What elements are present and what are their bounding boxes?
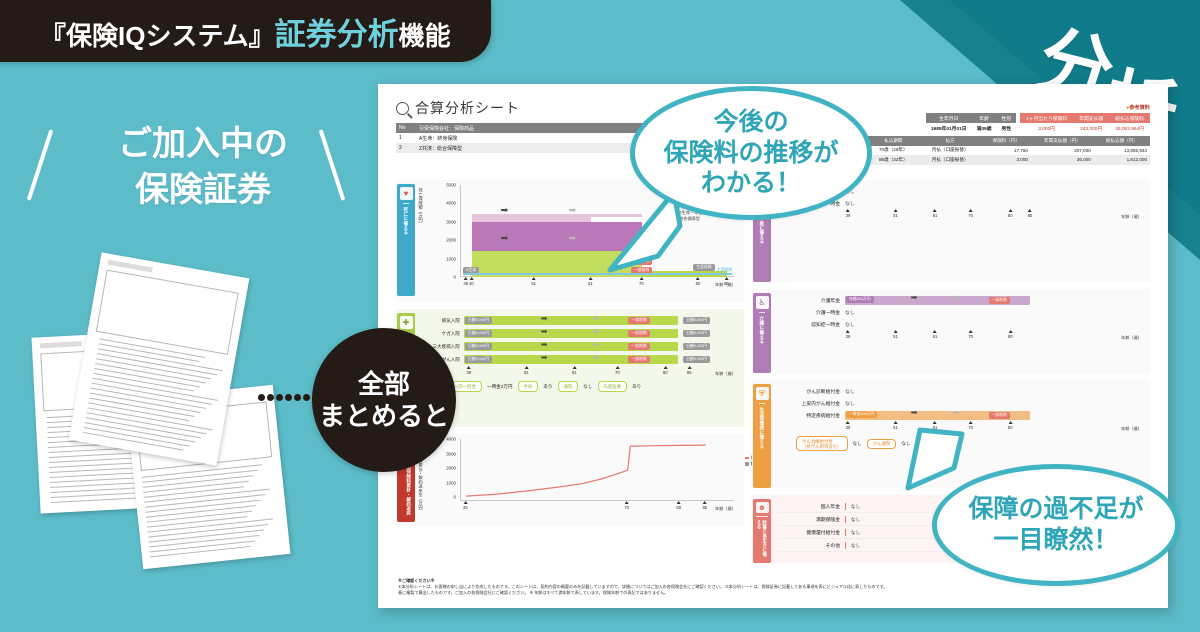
x-tick-label: 85 [687, 370, 692, 375]
medical-chip-row: 入院一時金一時金2万円手術あり通院なし先進医療あり [422, 381, 738, 392]
coverage-badge: 一部前倒 [628, 330, 649, 337]
arrow-dot [285, 394, 292, 401]
document-text-line [84, 422, 195, 442]
x-tick-marker [687, 366, 691, 369]
row-separator [845, 542, 846, 549]
x-tick: 51 [524, 366, 529, 375]
coverage-gap-bubble: 保障の過不足が 一目瞭然！ [932, 464, 1180, 586]
lifestyle-row: 特定疾病給付金一時金300万円➡➡一部前倒 [778, 409, 1144, 421]
x-tick-marker [469, 277, 473, 280]
premium-chart-x-axis: 39708085年齢（歳） [460, 501, 738, 513]
lifestyle-row: 上皮内がん給付金なし [778, 397, 1144, 409]
x-tick: 51 [893, 421, 898, 430]
x-tick-marker [532, 277, 536, 280]
col-payterm: 払込期間 [868, 136, 919, 145]
x-axis-label: 年齢（歳） [1121, 426, 1142, 432]
x-tick-label: 39 [466, 370, 471, 375]
lifestyle-label: 上皮内がん給付金 [778, 400, 840, 407]
x-tick: 80 [1008, 330, 1013, 339]
sheet-title: 合算分析シート [415, 98, 520, 118]
col-monthly: 1ヶ月当たり保険料 [1020, 113, 1073, 123]
cell: 70歳（29年） [868, 146, 919, 156]
medical-row: 病気入院日額5,000円➡➡一部前倒日額5,000円 [422, 314, 738, 327]
col-annual: 年間支払額 [1073, 113, 1109, 123]
val-monthly: 3,000円 [1020, 123, 1073, 133]
y-tick-label: 2000 [446, 466, 456, 471]
transition-arrow-icon: ➡ [911, 409, 918, 417]
x-axis-label: 年齢（歳） [715, 506, 736, 512]
disability-value: なし [845, 200, 855, 207]
lifestyle-track: 一時金300万円➡➡一部前倒 [845, 411, 1144, 420]
savings-row-label: 満期保険金 [778, 516, 840, 523]
x-tick-marker [1008, 209, 1012, 212]
nursing-value-badge: 年額300万円 [846, 296, 874, 303]
medical-chip-value: あり [543, 384, 552, 390]
medical-row-track: 日額5,000円➡➡一部前倒日額5,000円 [464, 342, 738, 351]
x-tick: 61 [572, 366, 577, 375]
transition-arrow-icon: ➡ [541, 328, 548, 336]
x-axis-label: 年齢（歳） [1121, 214, 1142, 220]
transition-arrow-icon: ➡ [501, 234, 509, 243]
x-tick-label: 39 [463, 505, 468, 510]
x-tick: 51 [893, 330, 898, 339]
coverage-badge: 一部前倒 [628, 356, 649, 363]
x-tick: 85 [687, 366, 692, 375]
x-tick-marker [724, 277, 728, 280]
medical-row: 三大疾病入院日額5,000円➡➡一部前倒日額5,000円 [422, 340, 738, 353]
medical-chip[interactable]: 先進医療 [598, 381, 628, 392]
cell: 月払（口座振替） [919, 155, 982, 165]
col-annualpay: 年間支払額（円） [1031, 136, 1094, 145]
x-tick-label: 80 [1008, 213, 1013, 218]
poster-stage: 分析 『保険IQシステム』証券分析機能 ご加入中の 保険証券 全部 まとめると … [0, 0, 1200, 632]
y-tick-label: 1000 [446, 480, 456, 485]
lifestyle-value-badge: 一時金300万円 [846, 411, 877, 418]
x-tick: 61 [933, 209, 938, 218]
coverage-badge: 一部前倒 [989, 297, 1010, 304]
title-banner: 『保険IQシステム』証券分析機能 [0, 0, 491, 62]
x-tick: 51 [531, 277, 536, 286]
x-tick-marker [846, 209, 850, 212]
legend-swatch [745, 462, 749, 466]
transition-arrow-icon: ➡ [501, 206, 509, 215]
coverage-badge: 一部前倒 [628, 343, 649, 350]
lifestyle-row: がん診断給付金なし [778, 385, 1144, 397]
death-y-axis-label: 死亡保障額（万円） [418, 188, 423, 226]
document-title-block [40, 341, 82, 348]
transition-arrow-icon: ➡ [569, 206, 577, 215]
transition-arrow-icon: ➡ [541, 341, 548, 349]
y-tick-label: 2000 [446, 238, 456, 243]
x-tick-marker [703, 501, 707, 504]
table-row: 終身 70歳（29年） 月払（口座振替） 17,750 207,000 13,8… [832, 146, 1150, 156]
x-tick-label: 61 [933, 334, 938, 339]
slash-left [27, 129, 54, 201]
lead-line-1: ご加入中の [58, 122, 348, 168]
x-tick: 80 [1008, 209, 1013, 218]
x-tick: 70 [968, 209, 973, 218]
medical-chip[interactable]: 手術 [518, 381, 539, 392]
nursing-row: 認知症一時金なし [778, 318, 1144, 330]
medical-row-label: ケガ入院 [422, 331, 460, 337]
transition-arrow-icon: ➡ [911, 294, 918, 302]
col-paymethod: 払方 [919, 136, 982, 145]
x-tick: 80 [676, 501, 681, 510]
premium-chart-y-axis: 01000200030004000 [436, 439, 458, 501]
lifestyle-x-axis: 3951617080年齢（歳） [844, 421, 1144, 433]
coverage-badge: 日額5,000円 [683, 343, 710, 350]
badge-line-2: まとめると [319, 400, 449, 432]
x-tick-marker [663, 366, 667, 369]
x-tick: 61 [933, 330, 938, 339]
x-tick-label: 70 [615, 370, 620, 375]
nursing-value: なし [845, 321, 855, 328]
x-tick-label: 61 [933, 213, 938, 218]
x-tick-marker [893, 421, 897, 424]
document-text-line [150, 546, 250, 558]
savings-row-label: 健康還付給付金 [778, 529, 840, 536]
title-prefix: 『保険IQシステム』 [40, 21, 275, 51]
whole-life-label: 生涯保障 [717, 268, 732, 273]
policy-detail-table: 保障期間 払込期間 払方 保険料（円） 年間支払額（円） 総払込額（円） 終身 … [832, 136, 1150, 164]
bubble-2-line-1: 保障の過不足が [968, 494, 1143, 525]
reference-note: ●参考資料 [832, 104, 1150, 111]
medical-chart-x-axis: 395161708085年齢（歳） [464, 366, 738, 378]
lead-headline: ご加入中の 保険証券 [58, 122, 348, 213]
x-tick: 80 [696, 277, 701, 286]
summarize-badge: 全部 まとめると [312, 328, 456, 472]
x-tick-marker [893, 209, 897, 212]
coverage-badge: 日額5,000円 [465, 317, 492, 324]
x-tick-marker [467, 366, 471, 369]
x-tick: 39 [463, 501, 468, 510]
y-tick-label: 0 [454, 275, 456, 280]
savings-row-label: その他 [778, 542, 840, 549]
medical-row: がん入院日額5,000円➡➡一部前倒日額5,000円 [422, 353, 738, 366]
cell: 1,812,000 [1094, 155, 1150, 165]
row-separator [845, 503, 846, 510]
medical-row-label: 病気入院 [422, 318, 460, 324]
transition-arrow-icon: ➡ [953, 409, 960, 417]
nursing-row: 介護年金年額300万円➡➡一部前倒 [778, 294, 1144, 306]
x-tick-label: 39 [846, 425, 851, 430]
x-tick-label: 39 [846, 213, 851, 218]
x-tick: 80 [1008, 421, 1013, 430]
col-totalpay: 総払込額（円） [1094, 136, 1150, 145]
x-axis-label: 年齢（歳） [715, 371, 736, 377]
val-annual: 243,000円 [1073, 123, 1109, 133]
arrow-dot [276, 394, 283, 401]
cell-no: 2 [396, 143, 416, 153]
x-tick-label: 61 [588, 281, 593, 286]
coverage-badge: 日額5,000円 [465, 356, 492, 363]
x-tick-marker [464, 277, 468, 280]
cell: 17,750 [982, 146, 1031, 156]
title-highlight: 証券分析 [275, 17, 399, 52]
bubble-1-line-3: わかる！ [663, 168, 838, 199]
x-tick: 80 [663, 366, 668, 375]
coverage-badge: 日額5,000円 [683, 317, 710, 324]
col-premium: 保険料（円） [982, 136, 1031, 145]
x-tick: 39 [846, 421, 851, 430]
x-tick-label: 39 [463, 281, 468, 286]
x-tick-label: 80 [663, 370, 668, 375]
lifestyle-section-label: 生活習慣病に備える [759, 403, 765, 448]
x-tick-marker [696, 277, 700, 280]
x-tick-label: 80 [1008, 425, 1013, 430]
savings-row-label: 個人年金 [778, 503, 840, 510]
bubble-1-line-2: 保険料の推移が [663, 138, 838, 169]
heart-icon: ♥ [400, 187, 413, 200]
title-suffix: 機能 [399, 21, 451, 51]
x-tick-label: 51 [893, 213, 898, 218]
transition-arrow-icon: ➡ [593, 341, 600, 349]
x-tick-marker [933, 209, 937, 212]
premium-chart-plot: 払込保険料累計解約返戻金 [460, 439, 734, 501]
nursing-label: 認知症一時金 [778, 321, 840, 328]
coverage-badge: 一部前倒 [628, 317, 649, 324]
x-tick-marker [572, 366, 576, 369]
nursing-label: 介護年金 [778, 297, 840, 304]
x-tick-label: 70 [968, 334, 973, 339]
x-tick-marker [1008, 421, 1012, 424]
premium-trend-bubble: 今後の 保険料の推移が わかる！ [630, 86, 872, 220]
bubble-1-line-1: 今後の [663, 107, 838, 138]
savings-row-value: なし [851, 529, 861, 536]
transition-arrow-icon: ➡ [541, 315, 548, 323]
x-tick-label: 70 [968, 213, 973, 218]
val-gender: 男性 [997, 123, 1017, 133]
x-tick-marker [969, 209, 973, 212]
cell: 3,000 [982, 155, 1031, 165]
savings-row-value: なし [851, 503, 861, 510]
col-age: 年齢 [972, 113, 997, 123]
lifestyle-value: なし [845, 388, 855, 395]
table-row: 終身 85歳（32年） 月払（口座振替） 3,000 36,000 1,812,… [832, 155, 1150, 165]
lead-line-2: 保険証券 [58, 168, 348, 214]
val-age: 満39歳 [972, 123, 997, 133]
savings-row-value: なし [851, 542, 861, 549]
val-total: 35,062,964円 [1109, 123, 1150, 133]
lifestyle-value: なし [845, 400, 855, 407]
y-tick-label: 3000 [446, 451, 456, 456]
savings-section-label: 貯蓄と長生きに備える [756, 516, 767, 558]
y-tick-label: 1000 [446, 256, 456, 261]
transition-arrow-icon: ➡ [569, 234, 577, 243]
x-tick-label: 51 [531, 281, 536, 286]
x-tick-marker [677, 501, 681, 504]
x-tick-marker [933, 330, 937, 333]
x-tick: 39 [466, 366, 471, 375]
medical-chip-value: なし [583, 384, 592, 390]
footnote-line-2: 基に複製で算出したものです。ご加入の各保険会社にご確認ください。 ※ 年齢はすべ… [398, 590, 1148, 596]
death-chart-pill: 生涯保障 [693, 264, 714, 271]
col-birthdate: 生年月日 [926, 113, 972, 123]
lifestyle-label: がん診断給付金 [778, 388, 840, 395]
x-tick-marker [969, 330, 973, 333]
x-tick-label: 61 [572, 370, 577, 375]
col-gender: 性別 [997, 113, 1017, 123]
arrow-dot [303, 394, 310, 401]
x-tick-label: 51 [524, 370, 529, 375]
x-tick-marker [1028, 209, 1032, 212]
transition-arrow-icon: ➡ [953, 294, 960, 302]
x-tick-label: 39 [846, 334, 851, 339]
magnifier-icon [396, 102, 409, 115]
x-tick-marker [1008, 330, 1012, 333]
medical-chip-value: 一時金2万円 [487, 384, 513, 390]
premium-summary-table: 1ヶ月当たり保険料 年間支払額 総払込保険料 3,000円 243,000円 3… [1020, 113, 1150, 133]
nursing-section-label: 介護に備える [759, 312, 765, 344]
x-axis-label: 年齢（歳） [715, 282, 736, 288]
x-tick-label: 51 [893, 334, 898, 339]
nursing-label: 介護一時金 [778, 309, 840, 316]
x-tick-marker [846, 421, 850, 424]
x-tick: 51 [893, 209, 898, 218]
cell: 85歳（32年） [868, 155, 919, 165]
lifestyle-chip[interactable]: がん治療給付金 （抗がん剤等含む） [796, 436, 848, 451]
x-tick: 85 [1028, 209, 1033, 218]
y-tick-label: 0 [454, 495, 456, 500]
cell: 月払（口座振替） [919, 146, 982, 156]
x-tick-label: 70 [624, 505, 629, 510]
x-tick-marker [524, 366, 528, 369]
death-chart-y-axis: 010002000300040005000 [436, 185, 458, 277]
y-tick-label: 4000 [446, 201, 456, 206]
medical-row-track: 日額5,000円➡➡一部前倒日額5,000円 [464, 329, 738, 338]
x-tick-marker [615, 366, 619, 369]
x-tick-label: 40 [469, 281, 474, 286]
wheelchair-icon: ♿ [756, 296, 769, 309]
x-tick: 70 [624, 501, 629, 510]
coverage-badge: 日額5,000円 [683, 330, 710, 337]
x-tick: 70 [615, 366, 620, 375]
x-tick: 61 [588, 277, 593, 286]
x-tick-marker [625, 501, 629, 504]
x-tick-marker [846, 330, 850, 333]
row-separator [845, 529, 846, 536]
x-tick-label: 80 [1008, 334, 1013, 339]
x-tick: 85 [702, 501, 707, 510]
sheet-header-tables: ●参考資料 生年月日 年齢 性別 1985年01月01日 満39歳 男性 [832, 104, 1150, 165]
lifestyle-label: 特定疾病給付金 [778, 412, 840, 419]
col-no: No [396, 123, 416, 133]
cell: 13,855,944 [1094, 146, 1150, 156]
nursing-row: 介護一時金なし [778, 306, 1144, 318]
val-birthdate: 1985年01月01日 [926, 123, 972, 133]
x-tick: 70 [968, 330, 973, 339]
coverage-badge: 日額5,000円 [465, 330, 492, 337]
coverage-badge: 日額5,000円 [683, 356, 710, 363]
row-separator [845, 516, 846, 523]
premium-accumulation-line [461, 439, 711, 497]
disability-x-axis: 395161708085年齢（歳） [844, 209, 1144, 221]
x-tick: 39 [846, 209, 851, 218]
nursing-value: なし [845, 309, 855, 316]
cross-icon: ✚ [400, 316, 413, 329]
transition-arrow-icon: ➡ [593, 328, 600, 336]
page-title: 『保険IQシステム』証券分析機能 [40, 9, 451, 54]
arrow-dot [267, 394, 274, 401]
x-tick-marker [463, 501, 467, 504]
legend-swatch [745, 457, 749, 458]
x-tick-marker [893, 330, 897, 333]
transition-arrow-icon: ➡ [593, 315, 600, 323]
x-tick: 39 [463, 277, 468, 286]
arrow-dot [258, 394, 265, 401]
transition-arrow-icon: ➡ [593, 354, 600, 362]
medical-row-track: 日額5,000円➡➡一部前倒日額5,000円 [464, 316, 738, 325]
nursing-track: 年額300万円➡➡一部前倒 [845, 296, 1144, 305]
cell: 36,000 [1031, 155, 1094, 165]
nursing-section: ♿ 介護に備える 介護年金年額300万円➡➡一部前倒介護一時金なし認知症一時金な… [752, 289, 1150, 373]
medical-row: ケガ入院日額5,000円➡➡一部前倒日額5,000円 [422, 327, 738, 340]
medical-chip-value: あり [632, 384, 641, 390]
x-tick-label: 80 [676, 505, 681, 510]
bubble-2-line-2: 一目瞭然！ [968, 525, 1143, 556]
nursing-x-axis: 3951617080年齢（歳） [844, 330, 1144, 342]
x-tick: 40 [469, 277, 474, 286]
x-tick-label: 85 [1028, 213, 1033, 218]
transition-arrow-icon: ➡ [541, 354, 548, 362]
cell: 207,000 [1031, 146, 1094, 156]
x-tick-label: 80 [696, 281, 701, 286]
y-tick-label: 3000 [446, 219, 456, 224]
x-tick-label: 51 [893, 425, 898, 430]
medical-chip[interactable]: 通院 [558, 381, 579, 392]
y-tick-label: 5000 [446, 183, 456, 188]
x-tick-marker [588, 277, 592, 280]
x-axis-label: 年齢（歳） [1121, 335, 1142, 341]
x-tick: 39 [846, 330, 851, 339]
hospital-icon: ⛨ [756, 387, 769, 400]
y-tick-label: 4000 [446, 437, 456, 442]
premium-paid-section: ● 払込保険料累計・解約返戻金 払込保険料累計・解約返戻金（万円） 010002… [396, 434, 744, 526]
col-total: 総払込保険料 [1109, 113, 1150, 123]
lifestyle-chip-value: なし [853, 441, 862, 447]
medical-row-track: 日額5,000円➡➡一部前倒日額5,000円 [464, 355, 738, 364]
savings-row-value: なし [851, 516, 861, 523]
profile-table: 生年月日 年齢 性別 1985年01月01日 満39歳 男性 [926, 113, 1016, 133]
coverage-badge: 日額5,000円 [465, 343, 492, 350]
arrow-dot [294, 394, 301, 401]
piggy-icon: ☻ [756, 502, 769, 513]
x-tick-label: 85 [702, 505, 707, 510]
death-section-label: 死亡に備える [403, 203, 409, 235]
badge-line-1: 全部 [358, 368, 410, 400]
cell-no: 1 [396, 133, 416, 143]
lifestyle-chip[interactable]: がん通院 [867, 439, 897, 449]
document-text-line [51, 497, 149, 503]
coverage-badge: 一部前倒 [989, 412, 1010, 419]
